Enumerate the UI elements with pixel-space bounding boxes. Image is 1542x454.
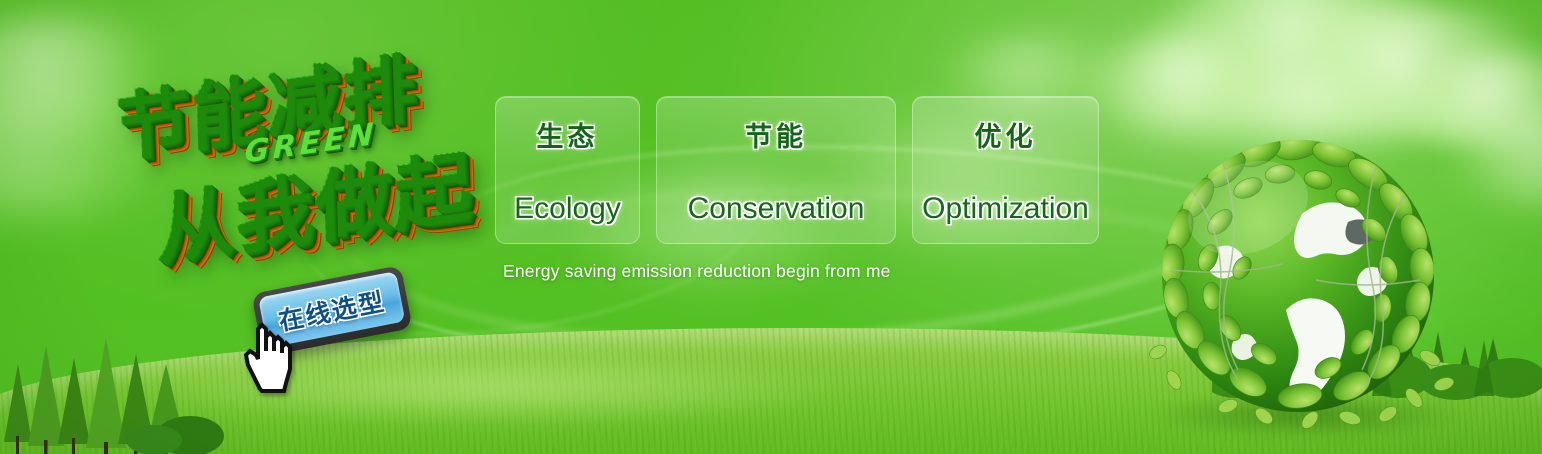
banner-tagline: Energy saving emission reduction begin f… [503, 261, 891, 282]
feature-card-list: 生态 Ecology 节能 Conservation 优化 Optimizati… [495, 96, 1099, 244]
cloud-shape [1080, 34, 1310, 138]
pointing-hand-cursor-icon [238, 311, 310, 393]
feature-card-zh-label: 生态 [537, 115, 599, 154]
feature-card-en-label: Optimization [922, 192, 1089, 226]
headline-3d: 节能减排 GREEN 从我做起 [96, 38, 496, 278]
cloud-shape [1265, 6, 1542, 138]
cloud-shape [1145, 0, 1475, 122]
eco-promo-banner: 节能减排 GREEN 从我做起 在线选型 生态 Ecology 节能 Conse… [0, 0, 1542, 454]
feature-card-conservation[interactable]: 节能 Conservation [656, 96, 896, 244]
feature-card-ecology[interactable]: 生态 Ecology [495, 96, 640, 244]
feature-card-zh-label: 节能 [745, 115, 807, 154]
feature-card-en-label: Ecology [514, 192, 621, 226]
cloud-shape [1455, 110, 1542, 206]
feature-card-zh-label: 优化 [975, 115, 1037, 154]
feature-card-optimization[interactable]: 优化 Optimization [912, 96, 1099, 244]
leaf-covered-green-globe-icon [1152, 130, 1444, 422]
feature-card-en-label: Conservation [688, 192, 865, 226]
